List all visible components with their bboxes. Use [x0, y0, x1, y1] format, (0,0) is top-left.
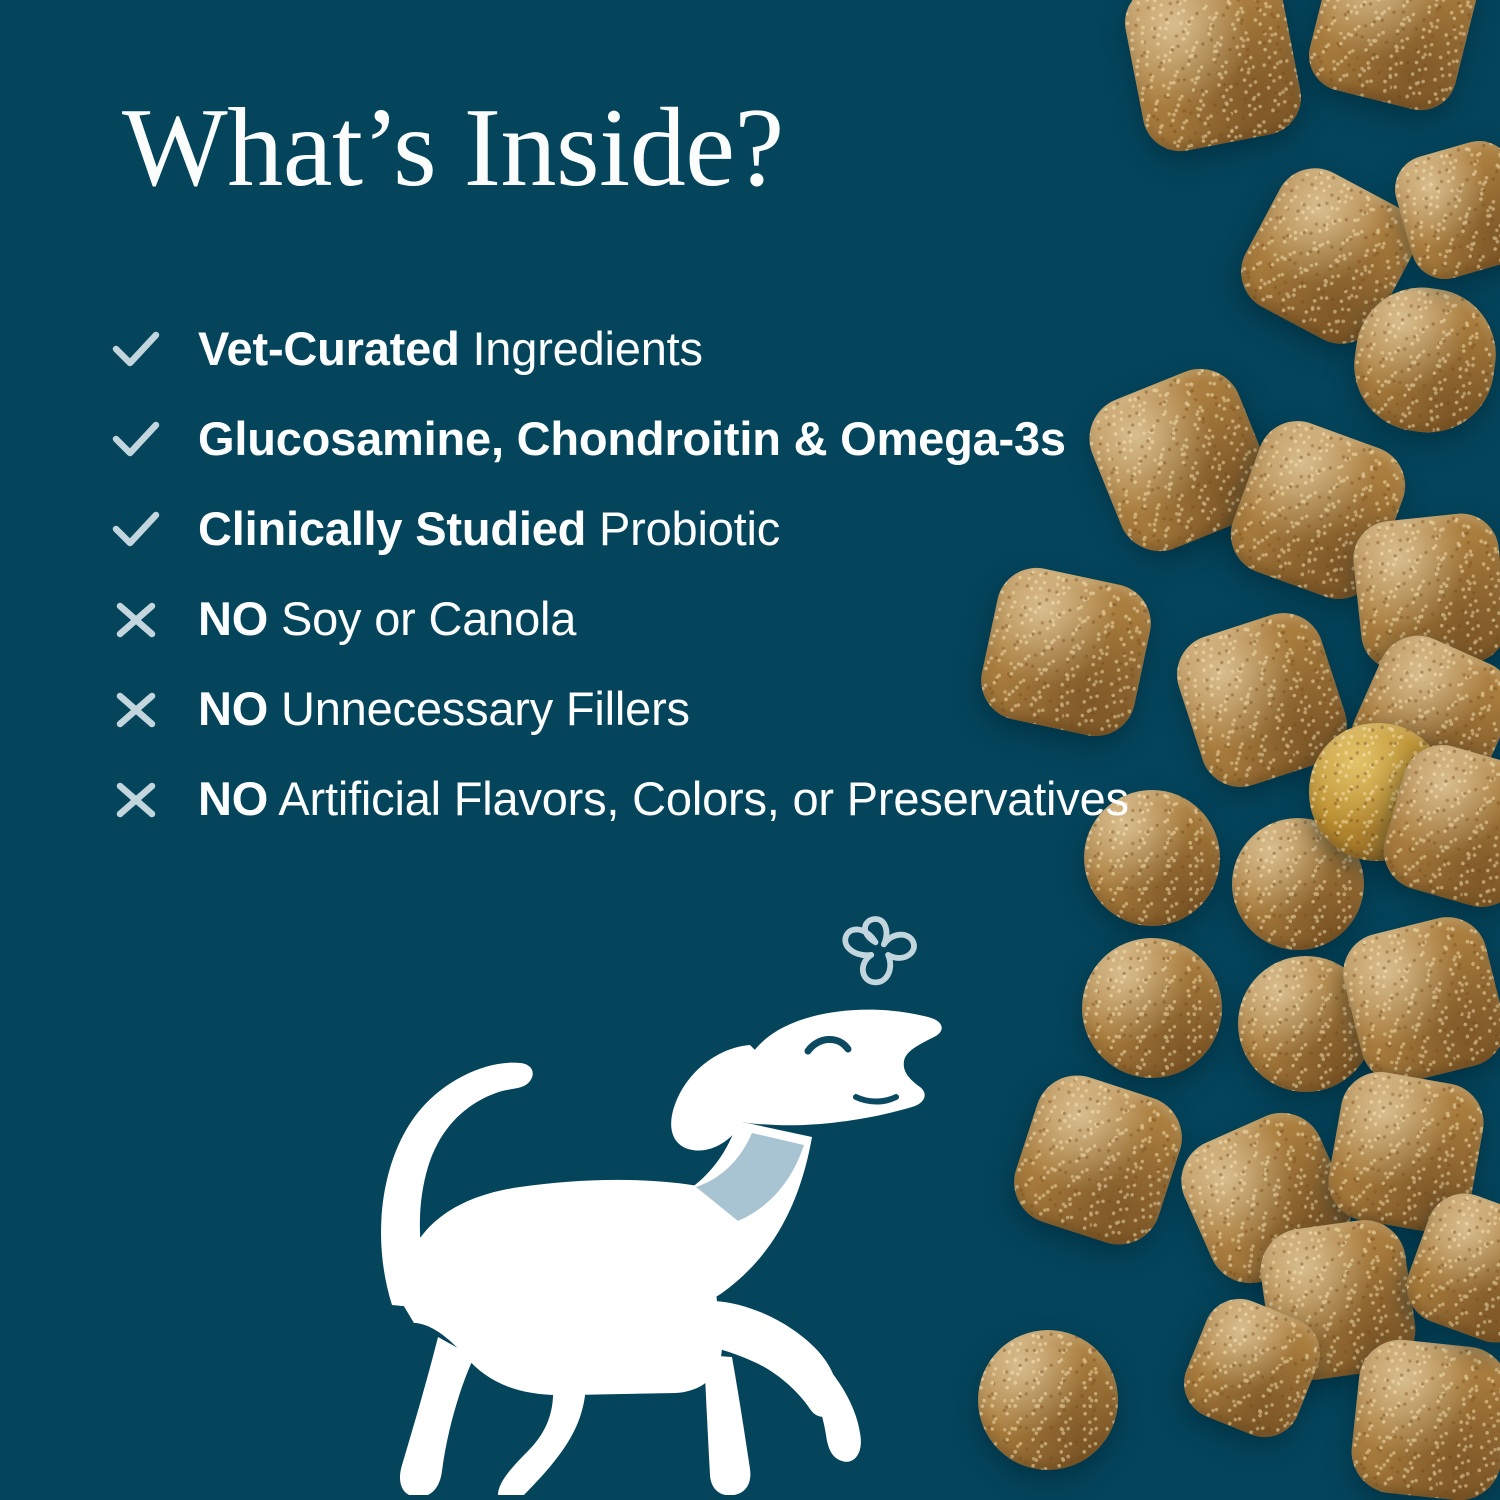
- treat-piece: [1173, 1288, 1331, 1448]
- treat-piece: [1003, 1065, 1193, 1256]
- treat-piece: [1227, 154, 1429, 358]
- feature-label: Clinically Studied Probiotic: [198, 498, 780, 561]
- walking-dog-silhouette: [252, 905, 952, 1495]
- check-icon: [108, 322, 164, 378]
- treat-piece: [1118, 0, 1307, 158]
- feature-label: NO Unnecessary Fillers: [198, 678, 690, 741]
- check-icon: [108, 502, 164, 558]
- x-icon: [108, 682, 164, 738]
- feature-item-no-fillers: NO Unnecessary Fillers: [108, 678, 1138, 741]
- page-title: What’s Inside?: [122, 92, 784, 204]
- treat-piece: [1082, 938, 1222, 1078]
- treat-piece: [1220, 410, 1417, 610]
- treat-piece: [1322, 1066, 1490, 1239]
- butterfly-icon: [845, 919, 914, 982]
- feature-label-rest: Artificial Flavors, Colors, or Preservat…: [268, 772, 1129, 825]
- treat-piece: [1347, 1336, 1500, 1500]
- treat-piece: [1396, 1183, 1500, 1353]
- feature-item-no-soy-canola: NO Soy or Canola: [108, 588, 1138, 651]
- treat-piece: [1346, 279, 1500, 441]
- feature-label-rest: Unnecessary Fillers: [268, 682, 690, 735]
- feature-item-glucosamine: Glucosamine, Chondroitin & Omega-3s: [108, 408, 1138, 471]
- x-icon: [108, 772, 164, 828]
- feature-list: Vet-Curated Ingredients Glucosamine, Cho…: [108, 318, 1138, 858]
- feature-item-probiotic: Clinically Studied Probiotic: [108, 498, 1138, 561]
- treat-piece: [1350, 510, 1500, 674]
- feature-label-strong: Glucosamine, Chondroitin & Omega-3s: [198, 412, 1066, 465]
- feature-label-strong: Clinically Studied: [198, 502, 586, 555]
- feature-label-rest: Ingredients: [460, 322, 703, 375]
- feature-label-rest: Soy or Canola: [268, 592, 576, 645]
- treat-piece: [1301, 0, 1484, 118]
- treat-piece: [1387, 133, 1500, 287]
- feature-label-strong: NO: [198, 592, 268, 645]
- feature-label-strong: Vet-Curated: [198, 322, 460, 375]
- treat-piece: [1238, 956, 1374, 1092]
- feature-label-strong: NO: [198, 772, 268, 825]
- feature-label-strong: NO: [198, 682, 268, 735]
- feature-item-no-artificial: NO Artificial Flavors, Colors, or Preser…: [108, 768, 1138, 831]
- treat-piece: [1335, 909, 1500, 1092]
- treat-piece: [1167, 603, 1358, 798]
- feature-label: Glucosamine, Chondroitin & Omega-3s: [198, 408, 1066, 471]
- treat-piece: [1255, 1215, 1421, 1386]
- treat-piece: [1374, 736, 1500, 917]
- feature-label-rest: Probiotic: [586, 502, 780, 555]
- dog-body-group: [381, 1010, 942, 1495]
- feature-label: NO Soy or Canola: [198, 588, 576, 651]
- x-icon: [108, 592, 164, 648]
- treat-piece: [1232, 818, 1364, 950]
- treat-piece: [1338, 623, 1500, 813]
- feature-label: Vet-Curated Ingredients: [198, 318, 703, 381]
- feature-label: NO Artificial Flavors, Colors, or Preser…: [198, 768, 1129, 831]
- treat-piece: [1168, 1099, 1364, 1296]
- whats-inside-infographic: What’s Inside? Vet-Curated Ingredients G…: [0, 0, 1500, 1500]
- treat-piece: [978, 1330, 1118, 1470]
- treat-piece: [1309, 723, 1447, 861]
- feature-item-vet-curated: Vet-Curated Ingredients: [108, 318, 1138, 381]
- check-icon: [108, 412, 164, 468]
